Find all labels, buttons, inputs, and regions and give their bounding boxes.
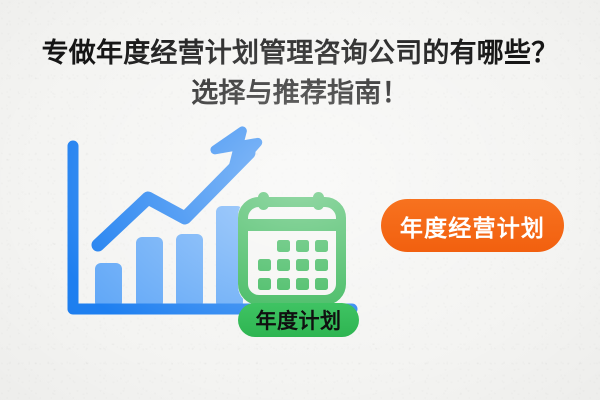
calendar-icon [238,192,346,305]
badge-annual-plan[interactable]: 年度计划 [238,303,359,337]
chart-bar-3 [176,234,203,308]
badge-annual-business-plan[interactable]: 年度经营计划 [381,199,564,252]
chart-bar-2 [136,237,163,308]
poster-canvas: 专做年度经营计划管理咨询公司的有哪些？ 选择与推荐指南！ [0,0,600,400]
chart-bar-1 [95,263,122,308]
